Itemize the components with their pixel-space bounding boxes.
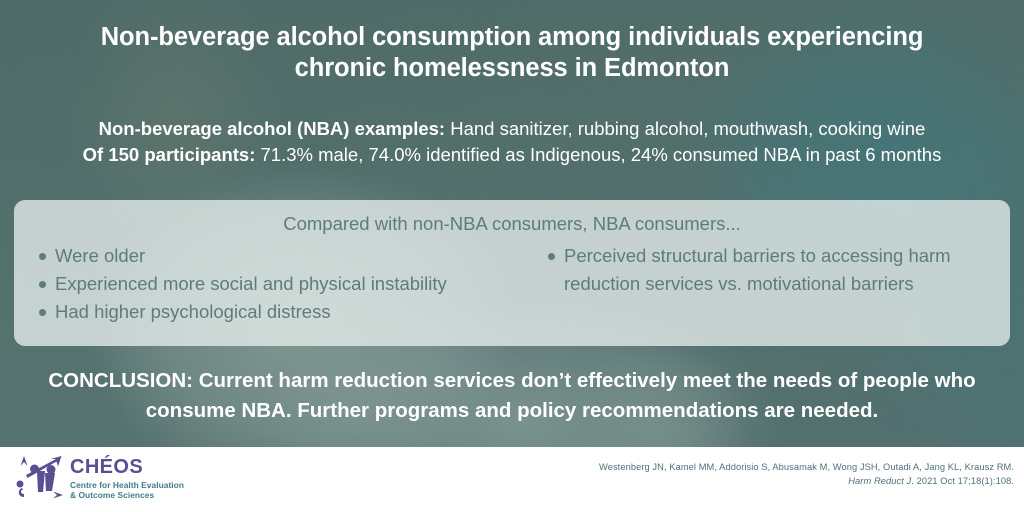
citation-details: . 2021 Oct 17;18(1):108. <box>911 476 1014 486</box>
citation-authors: Westenberg JN, Kamel MM, Addorisio S, Ab… <box>494 461 1014 475</box>
citation-journal: Harm Reduct J <box>848 476 911 486</box>
page-title: Non-beverage alcohol consumption among i… <box>0 22 1024 84</box>
poster-content: Non-beverage alcohol consumption among i… <box>0 0 1024 512</box>
comparison-panel: Compared with non-NBA consumers, NBA con… <box>14 200 1010 346</box>
comparison-panel-heading: Compared with non-NBA consumers, NBA con… <box>30 208 994 237</box>
comparison-column-left: Were older Experienced more social and p… <box>30 242 512 326</box>
fact-line-examples: Non-beverage alcohol (NBA) examples: Han… <box>0 116 1024 142</box>
bullet-dot-icon <box>39 253 46 260</box>
cheos-logo-text: CHÉOS Centre for Health Evaluation & Out… <box>70 457 184 499</box>
fact-text-participants: 71.3% male, 74.0% identified as Indigeno… <box>255 144 941 165</box>
list-item-label: Were older <box>55 245 145 266</box>
cheos-logo-subtitle-line2: & Outcome Sciences <box>70 491 184 499</box>
list-item-label: Perceived structural barriers to accessi… <box>564 245 951 294</box>
fact-line-participants: Of 150 participants: 71.3% male, 74.0% i… <box>0 142 1024 168</box>
key-facts-block: Non-beverage alcohol (NBA) examples: Han… <box>0 116 1024 168</box>
comparison-column-right: Perceived structural barriers to accessi… <box>512 242 994 326</box>
cheos-logo-name: CHÉOS <box>70 457 184 477</box>
fact-label-participants: Of 150 participants: <box>83 144 256 165</box>
list-item-label: Experienced more social and physical ins… <box>55 273 447 294</box>
bullet-dot-icon <box>39 281 46 288</box>
conclusion-text: CONCLUSION: Current harm reduction servi… <box>0 366 1024 426</box>
bullet-dot-icon <box>39 309 46 316</box>
bullet-dot-icon <box>548 253 555 260</box>
cheos-abstract-figures-arrows-icon <box>14 453 64 503</box>
list-item: Were older <box>39 242 506 270</box>
infographic-poster: Non-beverage alcohol consumption among i… <box>0 0 1024 512</box>
cheos-logo-subtitle-line1: Centre for Health Evaluation <box>70 481 184 489</box>
fact-text-examples: Hand sanitizer, rubbing alcohol, mouthwa… <box>445 118 925 139</box>
fact-label-examples: Non-beverage alcohol (NBA) examples: <box>99 118 445 139</box>
list-item: Experienced more social and physical ins… <box>39 270 506 298</box>
cheos-logo: CHÉOS Centre for Health Evaluation & Out… <box>14 453 184 503</box>
citation: Westenberg JN, Kamel MM, Addorisio S, Ab… <box>494 461 1014 488</box>
list-item: Perceived structural barriers to accessi… <box>548 242 988 298</box>
citation-source: Harm Reduct J. 2021 Oct 17;18(1):108. <box>494 475 1014 489</box>
list-item-label: Had higher psychological distress <box>55 301 331 322</box>
poster-footer: CHÉOS Centre for Health Evaluation & Out… <box>0 447 1024 512</box>
comparison-columns: Were older Experienced more social and p… <box>30 242 994 326</box>
list-item: Had higher psychological distress <box>39 298 506 326</box>
